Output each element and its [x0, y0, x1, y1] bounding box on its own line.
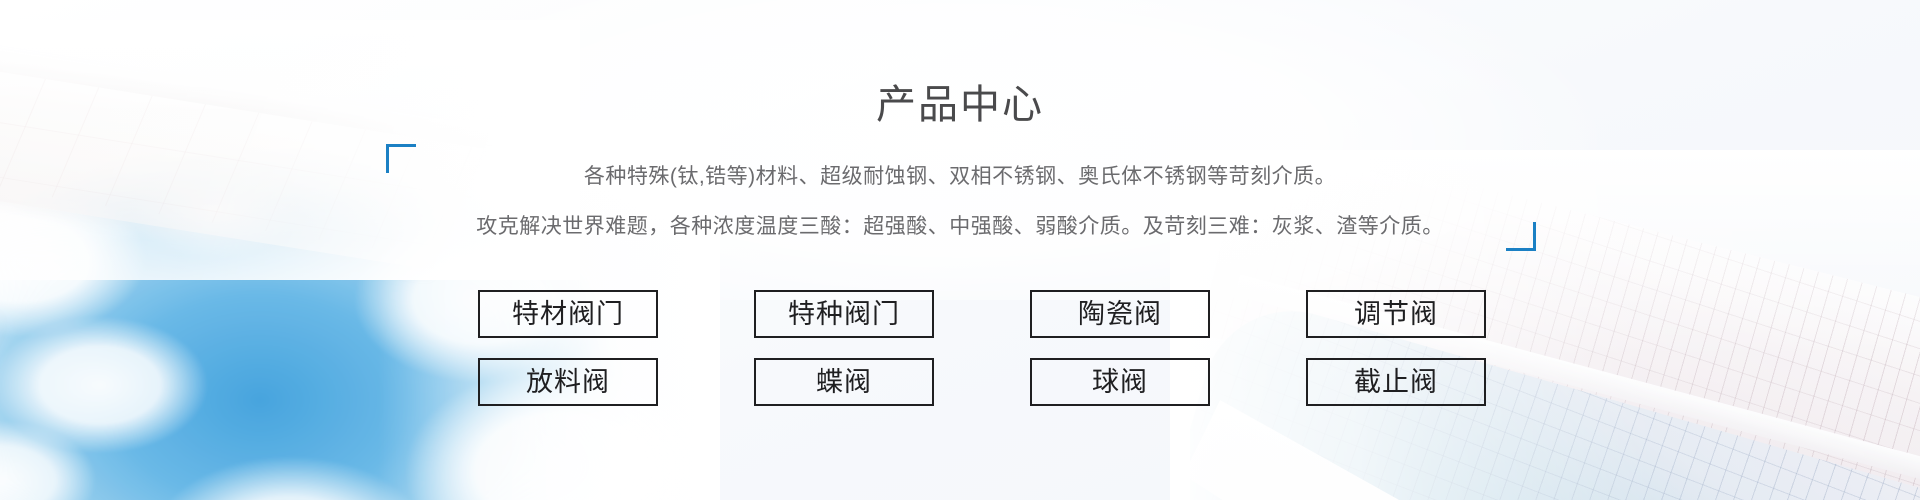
category-button-tecai-famen[interactable]: 特材阀门 [478, 290, 658, 338]
category-button-jiezhi-fa[interactable]: 截止阀 [1306, 358, 1486, 406]
description-line-2: 攻克解决世界难题，各种浓度温度三酸：超强酸、中强酸、弱酸介质。及苛刻三难：灰浆、… [0, 202, 1920, 252]
banner-content: 产品中心 各种特殊(钛,锆等)材料、超级耐蚀钢、双相不锈钢、奥氏体不锈钢等苛刻介… [0, 0, 1920, 500]
page-title: 产品中心 [0, 79, 1920, 131]
category-button-tezhong-famen[interactable]: 特种阀门 [754, 290, 934, 338]
description-line-1: 各种特殊(钛,锆等)材料、超级耐蚀钢、双相不锈钢、奥氏体不锈钢等苛刻介质。 [0, 152, 1920, 202]
category-button-die-fa[interactable]: 蝶阀 [754, 358, 934, 406]
category-button-taoci-fa[interactable]: 陶瓷阀 [1030, 290, 1210, 338]
product-center-banner: 产品中心 各种特殊(钛,锆等)材料、超级耐蚀钢、双相不锈钢、奥氏体不锈钢等苛刻介… [0, 0, 1920, 500]
category-button-fangliao-fa[interactable]: 放料阀 [478, 358, 658, 406]
product-category-grid: 特材阀门 特种阀门 陶瓷阀 调节阀 放料阀 蝶阀 球阀 截止阀 [478, 290, 1486, 406]
category-button-tiaojie-fa[interactable]: 调节阀 [1306, 290, 1486, 338]
category-button-qiu-fa[interactable]: 球阀 [1030, 358, 1210, 406]
description-block: 各种特殊(钛,锆等)材料、超级耐蚀钢、双相不锈钢、奥氏体不锈钢等苛刻介质。 攻克… [0, 152, 1920, 252]
